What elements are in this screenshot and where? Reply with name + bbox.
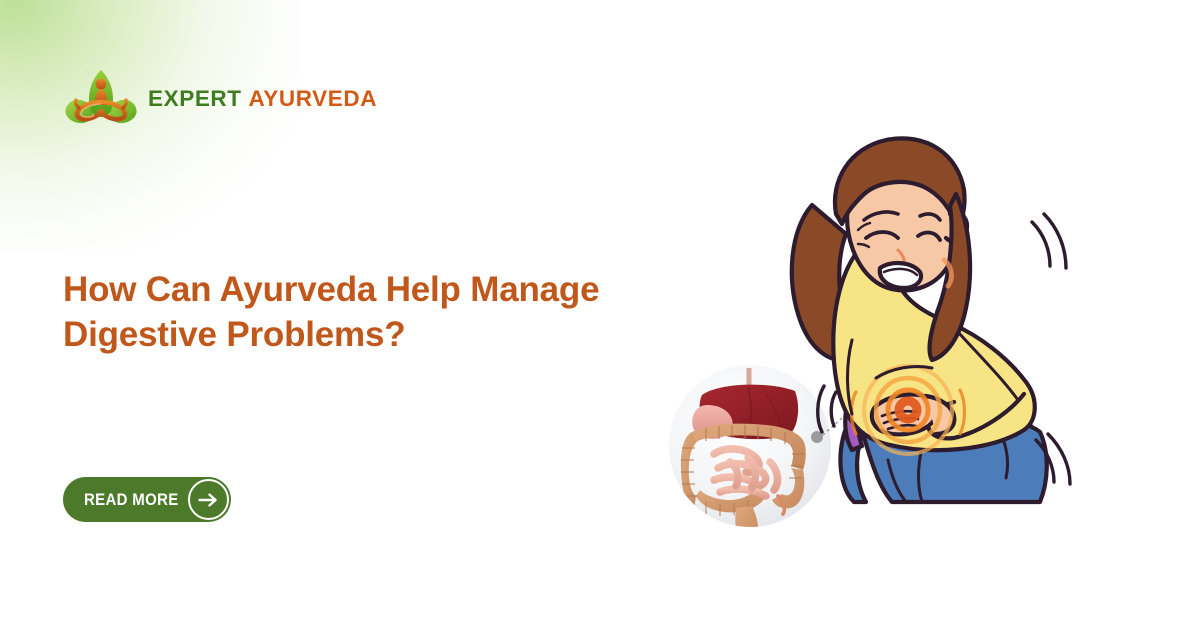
read-more-label: READ MORE	[84, 490, 179, 510]
brand-name: EXPERT AYURVEDA	[148, 88, 377, 111]
woman-figure	[792, 138, 1070, 502]
brand-name-first: EXPERT	[148, 86, 242, 111]
arrow-right-circle-icon[interactable]	[188, 479, 229, 520]
brand-name-second: AYURVEDA	[248, 86, 377, 111]
woman-with-stomach-pain-illustration	[640, 110, 1200, 540]
motion-lines	[1032, 214, 1070, 484]
page-title: How Can Ayurveda Help Manage Digestive P…	[63, 268, 673, 358]
lotus-meditation-leaf-icon	[63, 68, 139, 130]
brand-logo[interactable]: EXPERT AYURVEDA	[63, 68, 377, 130]
